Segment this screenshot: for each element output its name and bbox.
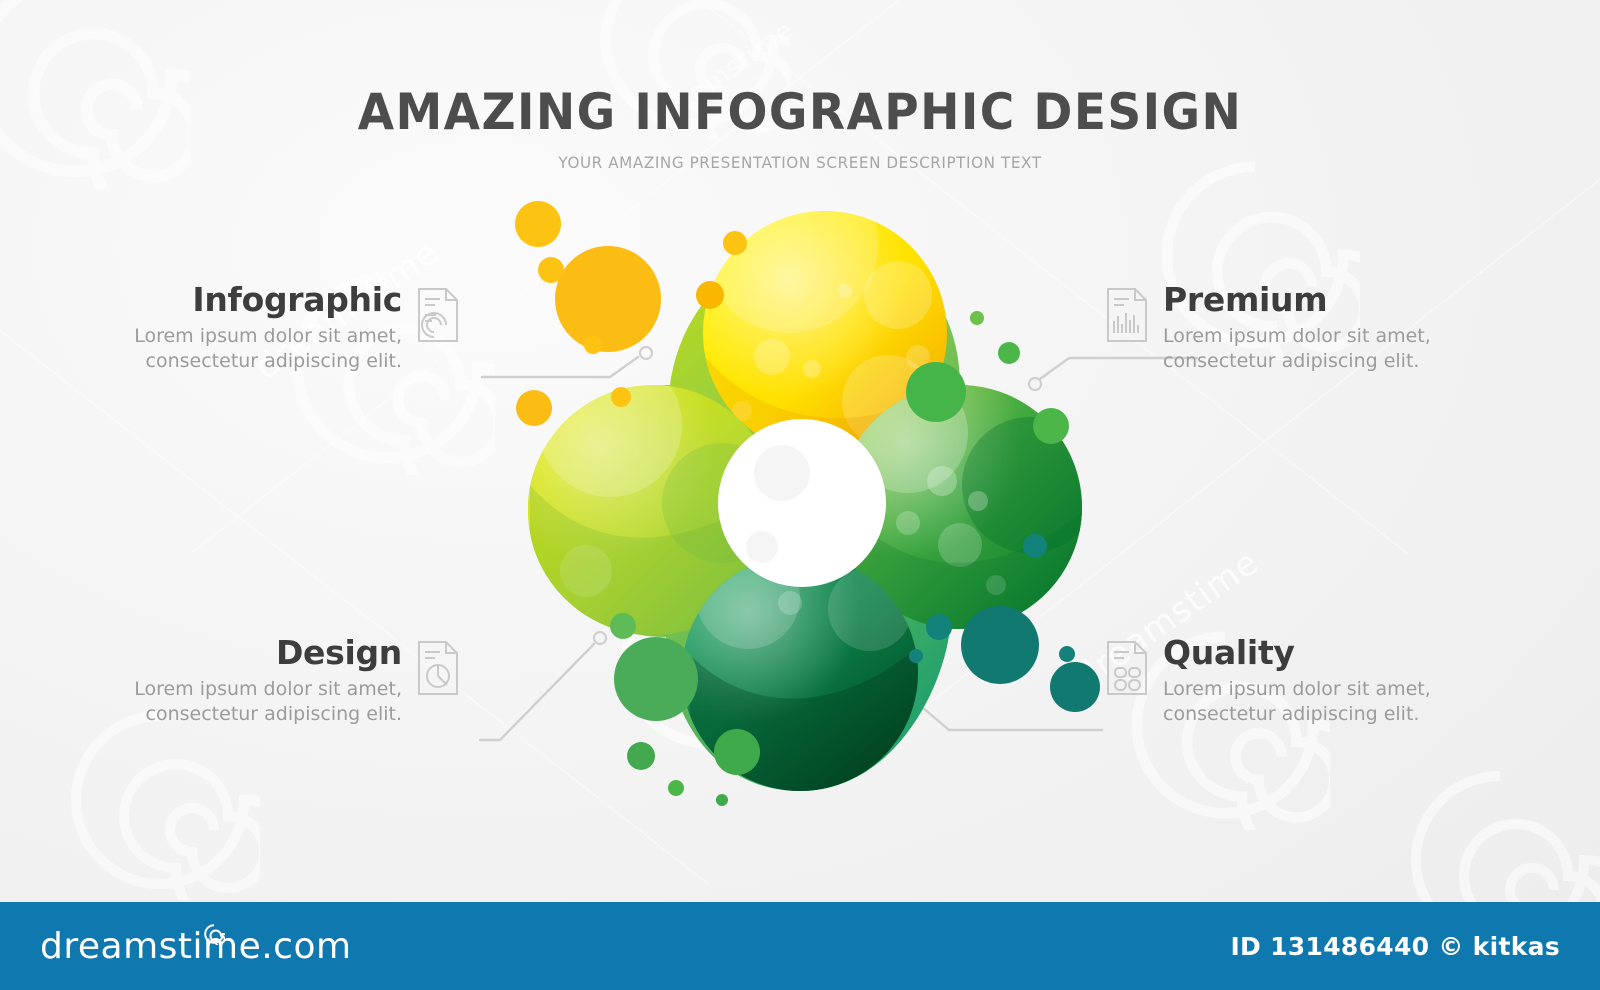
center-circle <box>718 419 886 587</box>
dreamstime-logo[interactable]: dreamstime.com <box>40 926 352 967</box>
item-infographic[interactable]: Infographic Lorem ipsum dolor sit amet, … <box>70 283 460 375</box>
item-description: Lorem ipsum dolor sit amet, consectetur … <box>1163 677 1493 728</box>
image-credit: ID 131486440 © kitkas <box>1230 932 1560 961</box>
document-grid-icon <box>1105 640 1149 701</box>
document-radial-chart-icon <box>416 287 460 348</box>
item-premium[interactable]: Premium Lorem ipsum dolor sit amet, cons… <box>1105 283 1505 375</box>
item-title: Infographic <box>72 283 402 318</box>
item-title: Design <box>72 636 402 671</box>
page-title: AMAZING INFOGRAPHIC DESIGN <box>48 86 1552 139</box>
item-title: Quality <box>1163 636 1493 671</box>
stock-footer-bar: dreamstime.com ID 131486440 © kitkas <box>0 902 1600 990</box>
infographic-poster: dreamstime dreamstime dreamstime AMAZING… <box>0 0 1600 990</box>
document-bar-chart-icon <box>1105 287 1149 348</box>
four-lobe-bubble-diagram <box>490 185 1110 795</box>
page-subtitle: YOUR AMAZING PRESENTATION SCREEN DESCRIP… <box>40 153 1560 172</box>
brand-text: dreamstime.com <box>40 926 352 967</box>
spiral-logo-icon <box>203 913 225 954</box>
item-design[interactable]: Design Lorem ipsum dolor sit amet, conse… <box>70 636 460 728</box>
item-quality[interactable]: Quality Lorem ipsum dolor sit amet, cons… <box>1105 636 1505 728</box>
poster-header: AMAZING INFOGRAPHIC DESIGN YOUR AMAZING … <box>0 86 1600 172</box>
item-description: Lorem ipsum dolor sit amet, consectetur … <box>72 324 402 375</box>
item-description: Lorem ipsum dolor sit amet, consectetur … <box>1163 324 1493 375</box>
spiral-watermark-icon <box>60 700 260 900</box>
item-title: Premium <box>1163 283 1493 318</box>
document-pie-chart-icon <box>416 640 460 701</box>
item-description: Lorem ipsum dolor sit amet, consectetur … <box>72 677 402 728</box>
